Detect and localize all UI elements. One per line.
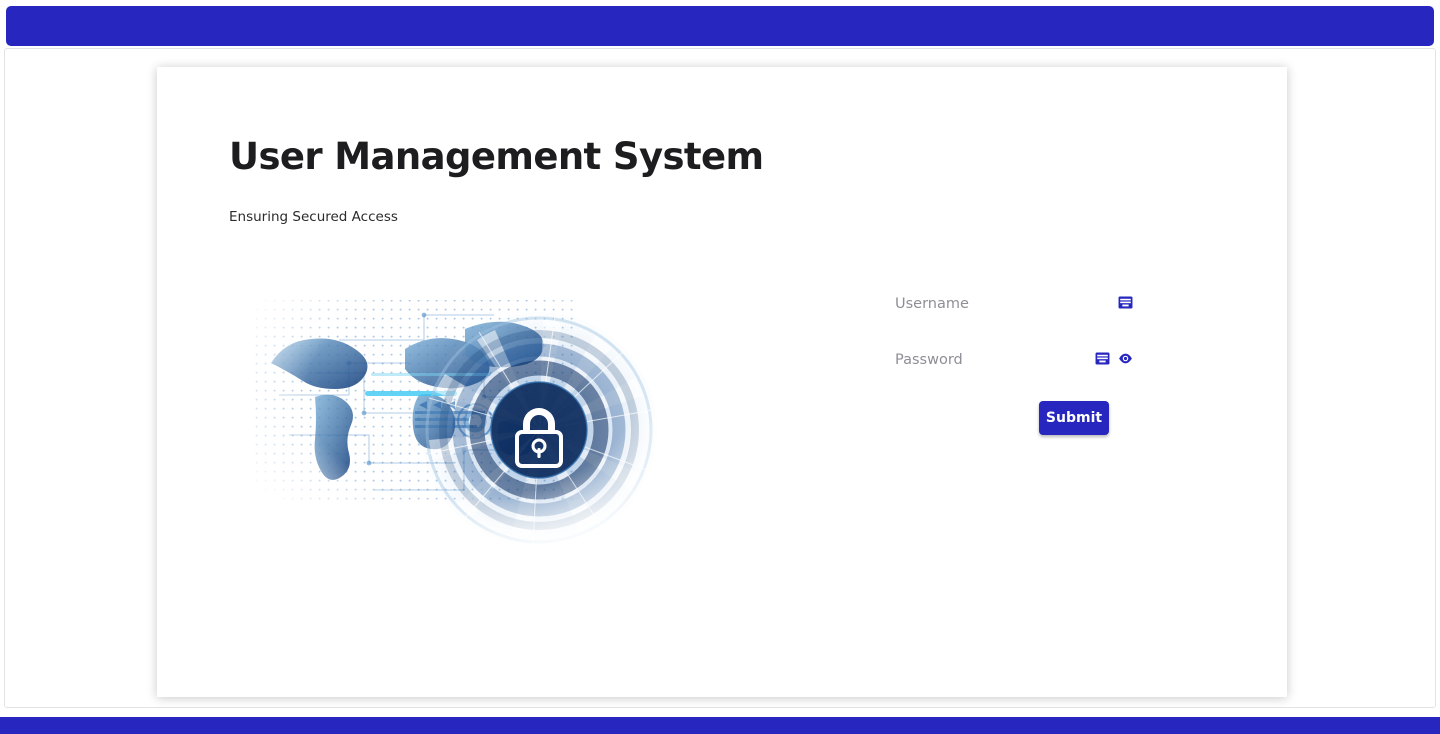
bottom-bar xyxy=(0,717,1440,734)
page-title: User Management System xyxy=(229,135,763,178)
top-banner xyxy=(6,6,1434,46)
submit-row: Submit xyxy=(893,401,1133,435)
password-field-row xyxy=(893,345,1133,375)
login-page: User Management System Ensuring Secured … xyxy=(0,0,1440,734)
username-input[interactable] xyxy=(893,289,1133,319)
eye-icon[interactable] xyxy=(1118,351,1133,366)
submit-button[interactable]: Submit xyxy=(1039,401,1109,435)
keyboard-icon[interactable] xyxy=(1118,295,1133,310)
branding-column: User Management System Ensuring Secured … xyxy=(229,67,789,697)
page-subtitle: Ensuring Secured Access xyxy=(229,209,398,225)
username-field-icons xyxy=(1118,295,1133,310)
username-field-row xyxy=(893,289,1133,319)
cyber-security-lock-world-map-image xyxy=(219,245,699,545)
login-card: User Management System Ensuring Secured … xyxy=(157,67,1287,697)
password-field-icons xyxy=(1095,351,1133,366)
login-form: Submit xyxy=(893,289,1133,435)
page-container: User Management System Ensuring Secured … xyxy=(4,48,1436,708)
keyboard-icon[interactable] xyxy=(1095,351,1110,366)
